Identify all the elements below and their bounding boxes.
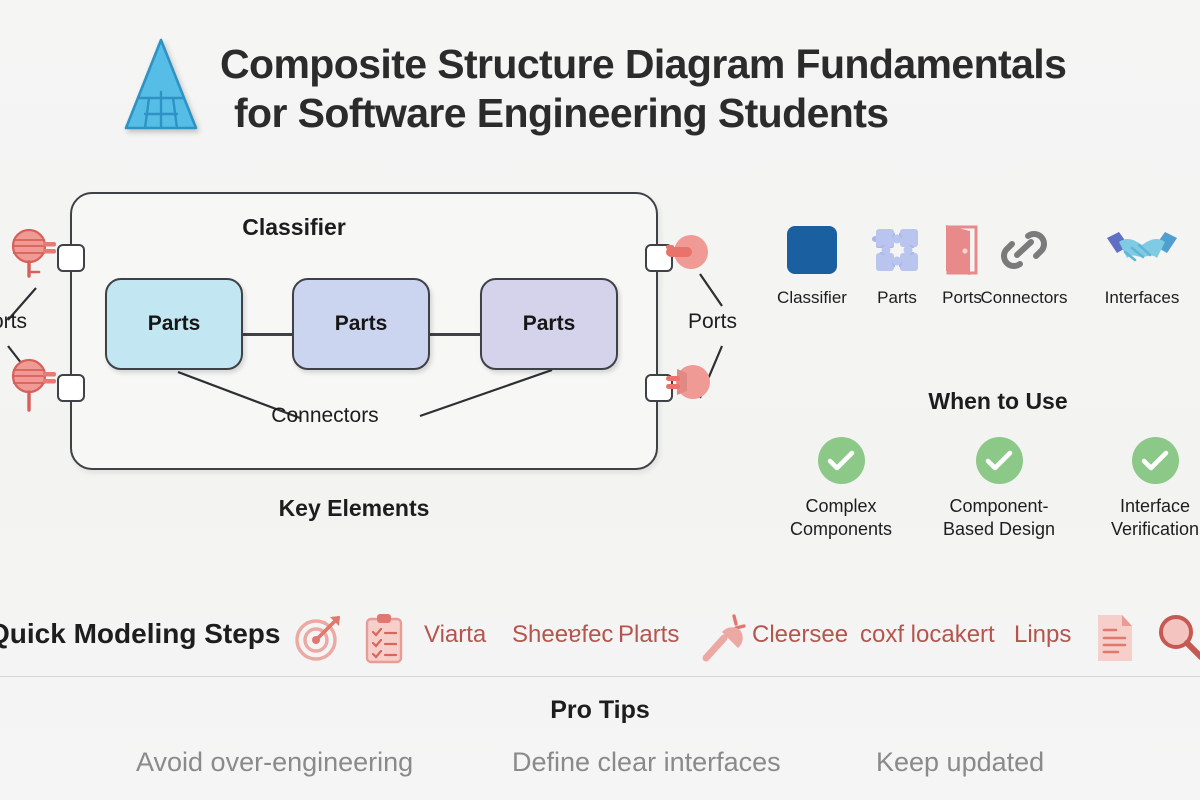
magnifying-glass-icon (1156, 612, 1200, 662)
power-plug-icon (698, 612, 754, 662)
classifier-label: Classifier (0, 214, 588, 241)
key-elements-label: Key Elements (70, 495, 638, 522)
port-plug-icon (665, 362, 715, 424)
chain-link-icon (974, 218, 1074, 282)
quick-steps-title: Quick Modeling Steps (0, 618, 280, 650)
title-line-2: for Software Engineering Students (220, 89, 1160, 138)
pro-tip-item: Avoid over-engineering (136, 747, 413, 778)
legend-row: Classifier (762, 218, 1200, 318)
composite-structure-diagram: Classifier Parts Parts Parts (0, 170, 770, 550)
pyramid-grid-logo (118, 34, 204, 138)
port-square[interactable] (57, 374, 85, 402)
when-to-use-label-line2: Verification (1080, 518, 1200, 541)
legend-label: Interfaces (1092, 288, 1192, 308)
target-dartboard-icon (294, 612, 344, 662)
quick-step-word: Cleersee (752, 621, 848, 649)
quick-step-word: Plarts (618, 621, 679, 649)
legend-item-connectors[interactable]: Connectors (974, 218, 1074, 308)
check-circle-icon (976, 437, 1023, 484)
part-box[interactable]: Parts (105, 278, 243, 370)
when-to-use-section: When to Use Complex Components (770, 388, 1200, 557)
quick-step-word: Linps (1014, 621, 1071, 649)
when-to-use-label-line2: Based Design (924, 518, 1074, 541)
title-line-1: Composite Structure Diagram Fundamentals (220, 40, 1160, 89)
check-circle-icon (818, 437, 865, 484)
part-box[interactable]: Parts (480, 278, 618, 370)
quick-step-word: coxf locakert (860, 621, 995, 649)
port-square[interactable] (57, 244, 85, 272)
handshake-icon (1092, 218, 1192, 282)
document-lines-icon (1092, 612, 1142, 662)
legend-label: Connectors (974, 288, 1074, 308)
when-to-use-title: When to Use (770, 388, 1200, 415)
when-to-use-label-line1: Interface (1080, 495, 1200, 518)
when-to-use-label-line2: Components (766, 518, 916, 541)
when-to-use-item[interactable]: Interface Verification (1080, 437, 1200, 541)
pro-tips-title: Pro Tips (0, 696, 1200, 725)
connector-line (430, 333, 480, 336)
header: Composite Structure Diagram Fundamentals… (0, 18, 1200, 138)
section-divider (0, 676, 1200, 677)
check-circle-icon (1132, 437, 1179, 484)
quick-step-word: Sheeɐfec (512, 621, 613, 649)
quick-modeling-steps-row: Quick Modeling Steps (0, 604, 1200, 670)
ports-label-right: Ports (688, 310, 737, 334)
when-to-use-item[interactable]: Complex Components (766, 437, 916, 541)
when-to-use-label-line1: Component- (924, 495, 1074, 518)
pro-tip-item: Keep updated (876, 747, 1044, 778)
pro-tip-item: Define clear interfaces (512, 747, 781, 778)
when-to-use-label-line1: Complex (766, 495, 916, 518)
page-title: Composite Structure Diagram Fundamentals… (220, 40, 1160, 138)
infographic-page: Composite Structure Diagram Fundamentals… (0, 0, 1200, 800)
port-plug-icon (8, 228, 58, 290)
clipboard-checklist-icon (360, 612, 410, 662)
when-to-use-item[interactable]: Component- Based Design (924, 437, 1074, 541)
pro-tips-section: Pro Tips Avoid over-engineering Define c… (0, 696, 1200, 795)
part-box[interactable]: Parts (292, 278, 430, 370)
connector-line (243, 333, 292, 336)
quick-step-word: Viarta (424, 621, 486, 649)
legend-item-interfaces[interactable]: Interfaces (1092, 218, 1192, 308)
ports-label-left: Ports (0, 310, 27, 334)
port-plug-icon (8, 358, 58, 420)
port-plug-icon (665, 232, 715, 294)
connectors-label: Connectors (225, 404, 425, 428)
